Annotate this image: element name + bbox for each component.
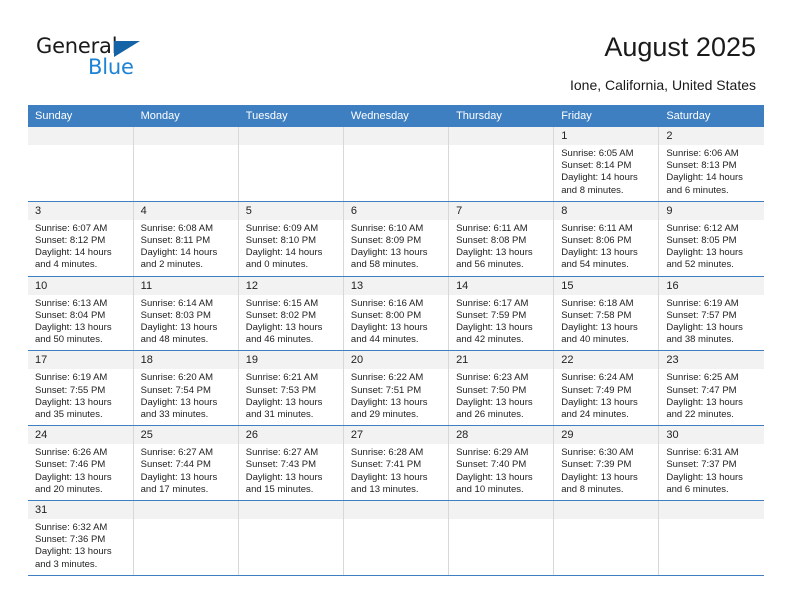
calendar-week-row: 10Sunrise: 6:13 AMSunset: 8:04 PMDayligh…: [28, 276, 764, 351]
sunset-text: Sunset: 8:09 PM: [351, 235, 444, 247]
day-details: Sunrise: 6:19 AMSunset: 7:55 PMDaylight:…: [28, 369, 133, 425]
calendar-empty-cell: [238, 501, 343, 576]
day-number: 30: [659, 426, 764, 444]
page-subtitle: Ione, California, United States: [570, 77, 756, 93]
sunrise-text: Sunrise: 6:05 AM: [561, 148, 654, 160]
day-number: 13: [344, 277, 448, 295]
sunrise-text: Sunrise: 6:13 AM: [35, 298, 129, 310]
day-details: Sunrise: 6:10 AMSunset: 8:09 PMDaylight:…: [344, 220, 448, 276]
day-details: Sunrise: 6:17 AMSunset: 7:59 PMDaylight:…: [449, 295, 553, 351]
daylight-text: Daylight: 14 hours and 2 minutes.: [141, 247, 234, 271]
calendar-week-row: 3Sunrise: 6:07 AMSunset: 8:12 PMDaylight…: [28, 201, 764, 276]
sunset-text: Sunset: 7:43 PM: [246, 459, 339, 471]
sunrise-text: Sunrise: 6:18 AM: [561, 298, 654, 310]
day-details: Sunrise: 6:22 AMSunset: 7:51 PMDaylight:…: [344, 369, 448, 425]
day-number: 29: [554, 426, 658, 444]
sunset-text: Sunset: 8:02 PM: [246, 310, 339, 322]
daylight-text: Daylight: 13 hours and 31 minutes.: [246, 397, 339, 421]
sunset-text: Sunset: 7:39 PM: [561, 459, 654, 471]
brand-name-bottom: Blue: [88, 55, 134, 79]
calendar-empty-cell: [343, 501, 448, 576]
sunset-text: Sunset: 7:55 PM: [35, 385, 129, 397]
daylight-text: Daylight: 13 hours and 3 minutes.: [35, 546, 129, 570]
sunset-text: Sunset: 7:57 PM: [666, 310, 760, 322]
weekday-header-monday: Monday: [133, 105, 238, 127]
day-details: Sunrise: 6:08 AMSunset: 8:11 PMDaylight:…: [134, 220, 238, 276]
sunrise-text: Sunrise: 6:27 AM: [246, 447, 339, 459]
day-number: 28: [449, 426, 553, 444]
daylight-text: Daylight: 14 hours and 4 minutes.: [35, 247, 129, 271]
calendar-grid: Sunday Monday Tuesday Wednesday Thursday…: [28, 105, 764, 576]
weekday-header-friday: Friday: [554, 105, 659, 127]
calendar-week-row: 17Sunrise: 6:19 AMSunset: 7:55 PMDayligh…: [28, 351, 764, 426]
sunrise-text: Sunrise: 6:16 AM: [351, 298, 444, 310]
sunset-text: Sunset: 8:06 PM: [561, 235, 654, 247]
sunset-text: Sunset: 7:47 PM: [666, 385, 760, 397]
day-details: Sunrise: 6:11 AMSunset: 8:06 PMDaylight:…: [554, 220, 658, 276]
daylight-text: Daylight: 13 hours and 24 minutes.: [561, 397, 654, 421]
day-number: 25: [134, 426, 238, 444]
day-number: 26: [239, 426, 343, 444]
sunrise-text: Sunrise: 6:19 AM: [666, 298, 760, 310]
day-number: 10: [28, 277, 133, 295]
daylight-text: Daylight: 14 hours and 0 minutes.: [246, 247, 339, 271]
calendar-page: General Blue August 2025 Ione, Californi…: [0, 0, 792, 612]
sunrise-text: Sunrise: 6:19 AM: [35, 372, 129, 384]
calendar-day-cell[interactable]: 11Sunrise: 6:14 AMSunset: 8:03 PMDayligh…: [133, 276, 238, 351]
sunset-text: Sunset: 7:40 PM: [456, 459, 549, 471]
calendar-day-cell[interactable]: 10Sunrise: 6:13 AMSunset: 8:04 PMDayligh…: [28, 276, 133, 351]
sunset-text: Sunset: 7:50 PM: [456, 385, 549, 397]
day-number: 21: [449, 351, 553, 369]
calendar-week-row: 31Sunrise: 6:32 AMSunset: 7:36 PMDayligh…: [28, 501, 764, 576]
day-details: Sunrise: 6:29 AMSunset: 7:40 PMDaylight:…: [449, 444, 553, 500]
calendar-day-cell[interactable]: 26Sunrise: 6:27 AMSunset: 7:43 PMDayligh…: [238, 426, 343, 501]
sunrise-text: Sunrise: 6:32 AM: [35, 522, 129, 534]
calendar-empty-cell: [554, 501, 659, 576]
day-details: Sunrise: 6:30 AMSunset: 7:39 PMDaylight:…: [554, 444, 658, 500]
sunrise-text: Sunrise: 6:28 AM: [351, 447, 444, 459]
daylight-text: Daylight: 13 hours and 33 minutes.: [141, 397, 234, 421]
calendar-day-cell[interactable]: 28Sunrise: 6:29 AMSunset: 7:40 PMDayligh…: [449, 426, 554, 501]
day-number: 15: [554, 277, 658, 295]
day-number: 23: [659, 351, 764, 369]
day-number: 12: [239, 277, 343, 295]
calendar-week-row: 24Sunrise: 6:26 AMSunset: 7:46 PMDayligh…: [28, 426, 764, 501]
day-details: Sunrise: 6:05 AMSunset: 8:14 PMDaylight:…: [554, 145, 658, 201]
sunset-text: Sunset: 8:13 PM: [666, 160, 760, 172]
calendar-day-cell[interactable]: 24Sunrise: 6:26 AMSunset: 7:46 PMDayligh…: [28, 426, 133, 501]
day-details: Sunrise: 6:27 AMSunset: 7:43 PMDaylight:…: [239, 444, 343, 500]
sunrise-text: Sunrise: 6:21 AM: [246, 372, 339, 384]
daylight-text: Daylight: 13 hours and 54 minutes.: [561, 247, 654, 271]
weekday-header-wednesday: Wednesday: [343, 105, 448, 127]
calendar-empty-cell: [449, 501, 554, 576]
calendar-day-cell[interactable]: 8Sunrise: 6:11 AMSunset: 8:06 PMDaylight…: [554, 201, 659, 276]
day-number: 4: [134, 202, 238, 220]
sunset-text: Sunset: 8:11 PM: [141, 235, 234, 247]
sunset-text: Sunset: 7:59 PM: [456, 310, 549, 322]
day-details: Sunrise: 6:12 AMSunset: 8:05 PMDaylight:…: [659, 220, 764, 276]
day-number: 24: [28, 426, 133, 444]
sunset-text: Sunset: 7:46 PM: [35, 459, 129, 471]
calendar-day-cell[interactable]: 14Sunrise: 6:17 AMSunset: 7:59 PMDayligh…: [449, 276, 554, 351]
calendar-day-cell[interactable]: 7Sunrise: 6:11 AMSunset: 8:08 PMDaylight…: [449, 201, 554, 276]
day-number: 22: [554, 351, 658, 369]
sunrise-text: Sunrise: 6:30 AM: [561, 447, 654, 459]
day-details: Sunrise: 6:14 AMSunset: 8:03 PMDaylight:…: [134, 295, 238, 351]
daylight-text: Daylight: 13 hours and 6 minutes.: [666, 472, 760, 496]
calendar-day-cell[interactable]: 31Sunrise: 6:32 AMSunset: 7:36 PMDayligh…: [28, 501, 133, 576]
sunrise-text: Sunrise: 6:09 AM: [246, 223, 339, 235]
day-number: [659, 501, 764, 519]
day-number: 17: [28, 351, 133, 369]
calendar-day-cell[interactable]: 29Sunrise: 6:30 AMSunset: 7:39 PMDayligh…: [554, 426, 659, 501]
brand-logo[interactable]: General Blue: [36, 34, 216, 86]
sunrise-text: Sunrise: 6:20 AM: [141, 372, 234, 384]
daylight-text: Daylight: 13 hours and 40 minutes.: [561, 322, 654, 346]
calendar-empty-cell: [449, 127, 554, 201]
daylight-text: Daylight: 14 hours and 6 minutes.: [666, 172, 760, 196]
weekday-header-tuesday: Tuesday: [238, 105, 343, 127]
day-details: Sunrise: 6:15 AMSunset: 8:02 PMDaylight:…: [239, 295, 343, 351]
sunrise-text: Sunrise: 6:10 AM: [351, 223, 444, 235]
day-number: [449, 127, 553, 145]
calendar-day-cell[interactable]: 25Sunrise: 6:27 AMSunset: 7:44 PMDayligh…: [133, 426, 238, 501]
sunset-text: Sunset: 7:41 PM: [351, 459, 444, 471]
day-details: Sunrise: 6:18 AMSunset: 7:58 PMDaylight:…: [554, 295, 658, 351]
daylight-text: Daylight: 13 hours and 50 minutes.: [35, 322, 129, 346]
calendar-day-cell[interactable]: 16Sunrise: 6:19 AMSunset: 7:57 PMDayligh…: [659, 276, 764, 351]
daylight-text: Daylight: 14 hours and 8 minutes.: [561, 172, 654, 196]
day-number: 18: [134, 351, 238, 369]
weekday-header-thursday: Thursday: [449, 105, 554, 127]
sunset-text: Sunset: 8:05 PM: [666, 235, 760, 247]
day-number: [449, 501, 553, 519]
day-details: Sunrise: 6:07 AMSunset: 8:12 PMDaylight:…: [28, 220, 133, 276]
calendar-day-cell[interactable]: 30Sunrise: 6:31 AMSunset: 7:37 PMDayligh…: [659, 426, 764, 501]
calendar-empty-cell: [133, 127, 238, 201]
daylight-text: Daylight: 13 hours and 29 minutes.: [351, 397, 444, 421]
daylight-text: Daylight: 13 hours and 52 minutes.: [666, 247, 760, 271]
sunrise-text: Sunrise: 6:14 AM: [141, 298, 234, 310]
sunrise-text: Sunrise: 6:24 AM: [561, 372, 654, 384]
day-number: [28, 127, 133, 145]
daylight-text: Daylight: 13 hours and 44 minutes.: [351, 322, 444, 346]
day-details: Sunrise: 6:20 AMSunset: 7:54 PMDaylight:…: [134, 369, 238, 425]
daylight-text: Daylight: 13 hours and 48 minutes.: [141, 322, 234, 346]
page-header: General Blue August 2025 Ione, Californi…: [0, 0, 792, 100]
day-details: Sunrise: 6:28 AMSunset: 7:41 PMDaylight:…: [344, 444, 448, 500]
calendar-day-cell[interactable]: 27Sunrise: 6:28 AMSunset: 7:41 PMDayligh…: [343, 426, 448, 501]
daylight-text: Daylight: 13 hours and 8 minutes.: [561, 472, 654, 496]
weekday-header-row: Sunday Monday Tuesday Wednesday Thursday…: [28, 105, 764, 127]
sunrise-text: Sunrise: 6:11 AM: [561, 223, 654, 235]
sunset-text: Sunset: 8:12 PM: [35, 235, 129, 247]
calendar-day-cell[interactable]: 22Sunrise: 6:24 AMSunset: 7:49 PMDayligh…: [554, 351, 659, 426]
day-number: 16: [659, 277, 764, 295]
day-number: [344, 127, 448, 145]
sunrise-text: Sunrise: 6:15 AM: [246, 298, 339, 310]
daylight-text: Daylight: 13 hours and 58 minutes.: [351, 247, 444, 271]
day-number: 6: [344, 202, 448, 220]
calendar-day-cell[interactable]: 17Sunrise: 6:19 AMSunset: 7:55 PMDayligh…: [28, 351, 133, 426]
calendar-day-cell[interactable]: 3Sunrise: 6:07 AMSunset: 8:12 PMDaylight…: [28, 201, 133, 276]
sunrise-text: Sunrise: 6:23 AM: [456, 372, 549, 384]
daylight-text: Daylight: 13 hours and 10 minutes.: [456, 472, 549, 496]
calendar-day-cell[interactable]: 1Sunrise: 6:05 AMSunset: 8:14 PMDaylight…: [554, 127, 659, 201]
calendar-empty-cell: [133, 501, 238, 576]
page-title: August 2025: [604, 32, 756, 63]
day-number: 1: [554, 127, 658, 145]
daylight-text: Daylight: 13 hours and 46 minutes.: [246, 322, 339, 346]
calendar-day-cell[interactable]: 13Sunrise: 6:16 AMSunset: 8:00 PMDayligh…: [343, 276, 448, 351]
day-details: Sunrise: 6:25 AMSunset: 7:47 PMDaylight:…: [659, 369, 764, 425]
day-details: Sunrise: 6:19 AMSunset: 7:57 PMDaylight:…: [659, 295, 764, 351]
day-details: Sunrise: 6:13 AMSunset: 8:04 PMDaylight:…: [28, 295, 133, 351]
day-number: 11: [134, 277, 238, 295]
calendar-day-cell[interactable]: 19Sunrise: 6:21 AMSunset: 7:53 PMDayligh…: [238, 351, 343, 426]
sunrise-text: Sunrise: 6:11 AM: [456, 223, 549, 235]
calendar-day-cell[interactable]: 9Sunrise: 6:12 AMSunset: 8:05 PMDaylight…: [659, 201, 764, 276]
day-details: Sunrise: 6:32 AMSunset: 7:36 PMDaylight:…: [28, 519, 133, 575]
day-details: Sunrise: 6:26 AMSunset: 7:46 PMDaylight:…: [28, 444, 133, 500]
sunset-text: Sunset: 8:14 PM: [561, 160, 654, 172]
sunset-text: Sunset: 7:49 PM: [561, 385, 654, 397]
day-number: 31: [28, 501, 133, 519]
day-number: [554, 501, 658, 519]
day-number: 7: [449, 202, 553, 220]
sunset-text: Sunset: 7:36 PM: [35, 534, 129, 546]
calendar-day-cell[interactable]: 2Sunrise: 6:06 AMSunset: 8:13 PMDaylight…: [659, 127, 764, 201]
day-number: 19: [239, 351, 343, 369]
sunset-text: Sunset: 7:53 PM: [246, 385, 339, 397]
sunrise-text: Sunrise: 6:07 AM: [35, 223, 129, 235]
daylight-text: Daylight: 13 hours and 17 minutes.: [141, 472, 234, 496]
day-details: Sunrise: 6:31 AMSunset: 7:37 PMDaylight:…: [659, 444, 764, 500]
sunset-text: Sunset: 8:10 PM: [246, 235, 339, 247]
day-number: 5: [239, 202, 343, 220]
calendar-body: 1Sunrise: 6:05 AMSunset: 8:14 PMDaylight…: [28, 127, 764, 575]
sunrise-text: Sunrise: 6:12 AM: [666, 223, 760, 235]
day-number: 8: [554, 202, 658, 220]
daylight-text: Daylight: 13 hours and 26 minutes.: [456, 397, 549, 421]
sunset-text: Sunset: 8:08 PM: [456, 235, 549, 247]
daylight-text: Daylight: 13 hours and 35 minutes.: [35, 397, 129, 421]
sunset-text: Sunset: 7:44 PM: [141, 459, 234, 471]
calendar-day-cell[interactable]: 20Sunrise: 6:22 AMSunset: 7:51 PMDayligh…: [343, 351, 448, 426]
sunrise-text: Sunrise: 6:08 AM: [141, 223, 234, 235]
calendar-day-cell[interactable]: 15Sunrise: 6:18 AMSunset: 7:58 PMDayligh…: [554, 276, 659, 351]
weekday-header-saturday: Saturday: [659, 105, 764, 127]
sunset-text: Sunset: 8:03 PM: [141, 310, 234, 322]
day-number: [239, 127, 343, 145]
calendar-day-cell[interactable]: 21Sunrise: 6:23 AMSunset: 7:50 PMDayligh…: [449, 351, 554, 426]
calendar-day-cell[interactable]: 4Sunrise: 6:08 AMSunset: 8:11 PMDaylight…: [133, 201, 238, 276]
calendar-day-cell[interactable]: 18Sunrise: 6:20 AMSunset: 7:54 PMDayligh…: [133, 351, 238, 426]
day-details: Sunrise: 6:23 AMSunset: 7:50 PMDaylight:…: [449, 369, 553, 425]
sunset-text: Sunset: 8:00 PM: [351, 310, 444, 322]
sunset-text: Sunset: 7:58 PM: [561, 310, 654, 322]
sunrise-text: Sunrise: 6:27 AM: [141, 447, 234, 459]
calendar-empty-cell: [659, 501, 764, 576]
day-number: [134, 501, 238, 519]
day-number: 14: [449, 277, 553, 295]
day-details: Sunrise: 6:16 AMSunset: 8:00 PMDaylight:…: [344, 295, 448, 351]
sunset-text: Sunset: 7:54 PM: [141, 385, 234, 397]
sunset-text: Sunset: 7:37 PM: [666, 459, 760, 471]
calendar-empty-cell: [238, 127, 343, 201]
day-details: Sunrise: 6:27 AMSunset: 7:44 PMDaylight:…: [134, 444, 238, 500]
calendar-week-row: 1Sunrise: 6:05 AMSunset: 8:14 PMDaylight…: [28, 127, 764, 201]
day-details: Sunrise: 6:09 AMSunset: 8:10 PMDaylight:…: [239, 220, 343, 276]
sunrise-text: Sunrise: 6:31 AM: [666, 447, 760, 459]
calendar-day-cell[interactable]: 23Sunrise: 6:25 AMSunset: 7:47 PMDayligh…: [659, 351, 764, 426]
daylight-text: Daylight: 13 hours and 42 minutes.: [456, 322, 549, 346]
calendar-empty-cell: [28, 127, 133, 201]
day-number: [344, 501, 448, 519]
daylight-text: Daylight: 13 hours and 38 minutes.: [666, 322, 760, 346]
day-details: Sunrise: 6:21 AMSunset: 7:53 PMDaylight:…: [239, 369, 343, 425]
day-number: 2: [659, 127, 764, 145]
daylight-text: Daylight: 13 hours and 20 minutes.: [35, 472, 129, 496]
calendar-empty-cell: [343, 127, 448, 201]
sunset-text: Sunset: 8:04 PM: [35, 310, 129, 322]
calendar-day-cell[interactable]: 12Sunrise: 6:15 AMSunset: 8:02 PMDayligh…: [238, 276, 343, 351]
day-number: [134, 127, 238, 145]
day-number: 3: [28, 202, 133, 220]
day-number: 9: [659, 202, 764, 220]
calendar-day-cell[interactable]: 5Sunrise: 6:09 AMSunset: 8:10 PMDaylight…: [238, 201, 343, 276]
day-details: Sunrise: 6:24 AMSunset: 7:49 PMDaylight:…: [554, 369, 658, 425]
day-number: 27: [344, 426, 448, 444]
sunrise-text: Sunrise: 6:25 AM: [666, 372, 760, 384]
sunrise-text: Sunrise: 6:17 AM: [456, 298, 549, 310]
sunset-text: Sunset: 7:51 PM: [351, 385, 444, 397]
sunrise-text: Sunrise: 6:22 AM: [351, 372, 444, 384]
sunrise-text: Sunrise: 6:29 AM: [456, 447, 549, 459]
sunrise-text: Sunrise: 6:06 AM: [666, 148, 760, 160]
daylight-text: Daylight: 13 hours and 15 minutes.: [246, 472, 339, 496]
daylight-text: Daylight: 13 hours and 13 minutes.: [351, 472, 444, 496]
day-number: [239, 501, 343, 519]
day-details: Sunrise: 6:11 AMSunset: 8:08 PMDaylight:…: [449, 220, 553, 276]
sunrise-text: Sunrise: 6:26 AM: [35, 447, 129, 459]
calendar-day-cell[interactable]: 6Sunrise: 6:10 AMSunset: 8:09 PMDaylight…: [343, 201, 448, 276]
day-number: 20: [344, 351, 448, 369]
weekday-header-sunday: Sunday: [28, 105, 133, 127]
daylight-text: Daylight: 13 hours and 56 minutes.: [456, 247, 549, 271]
day-details: Sunrise: 6:06 AMSunset: 8:13 PMDaylight:…: [659, 145, 764, 201]
daylight-text: Daylight: 13 hours and 22 minutes.: [666, 397, 760, 421]
